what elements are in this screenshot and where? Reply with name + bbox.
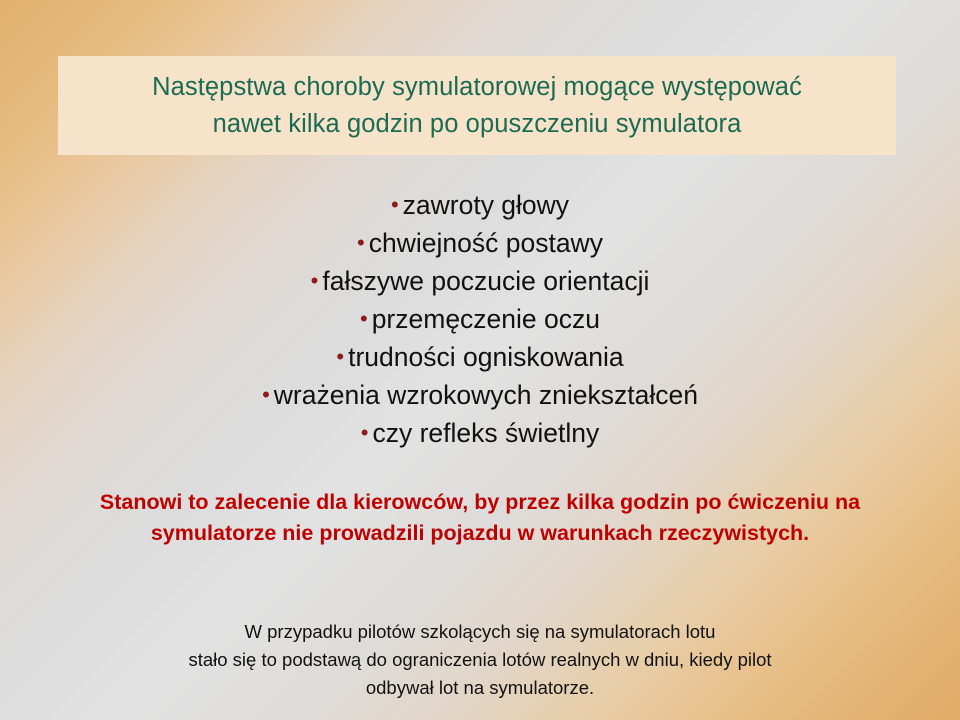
list-item: •przemęczenie oczu [0,300,960,338]
list-item-label: fałszywe poczucie orientacji [322,266,649,296]
list-item-label: trudności ogniskowania [348,342,623,372]
list-item-label: wrażenia wzrokowych zniekształceń [274,380,698,410]
bullet-dot-icon: • [357,230,369,255]
list-item: •czy refleks świetlny [0,414,960,452]
title-banner: Następstwa choroby symulatorowej mogące … [58,56,896,155]
symptom-list: •zawroty głowy •chwiejność postawy •fałs… [0,186,960,452]
bullet-dot-icon: • [361,420,373,445]
page-title: Następstwa choroby symulatorowej mogące … [152,69,802,141]
presentation-slide: Następstwa choroby symulatorowej mogące … [0,0,960,720]
list-item: •fałszywe poczucie orientacji [0,262,960,300]
bullet-dot-icon: • [262,382,274,407]
recommendation-paragraph: Stanowi to zalecenie dla kierowców, by p… [60,487,900,549]
list-item: •trudności ogniskowania [0,338,960,376]
bullet-dot-icon: • [391,192,403,217]
bullet-dot-icon: • [336,344,348,369]
list-item-label: zawroty głowy [403,190,569,220]
list-item: •zawroty głowy [0,186,960,224]
list-item: •chwiejność postawy [0,224,960,262]
list-item-label: chwiejność postawy [369,228,603,258]
list-item-label: czy refleks świetlny [372,418,599,448]
closing-paragraph: W przypadku pilotów szkolących się na sy… [40,618,920,702]
bullet-dot-icon: • [311,268,323,293]
bullet-dot-icon: • [360,306,372,331]
list-item-label: przemęczenie oczu [372,304,600,334]
list-item: •wrażenia wzrokowych zniekształceń [0,376,960,414]
